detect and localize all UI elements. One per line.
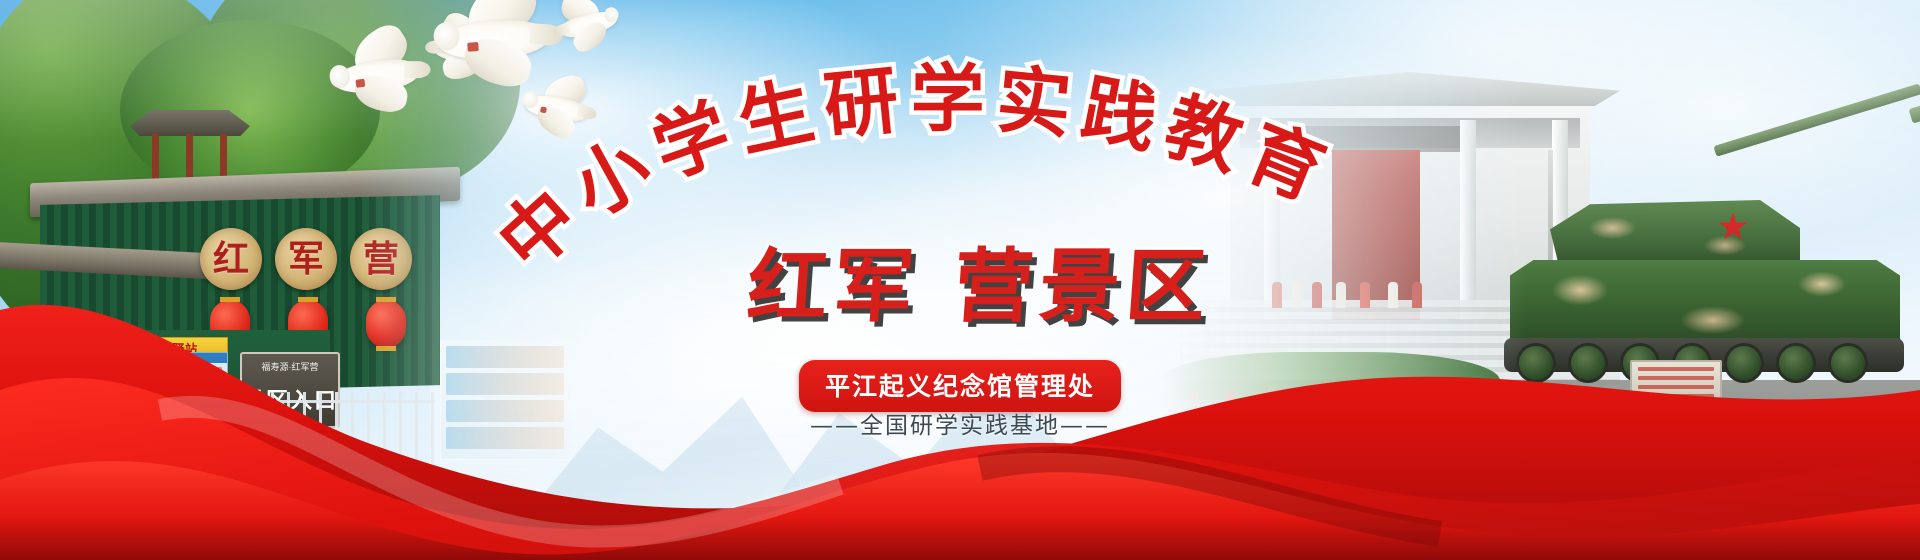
tank-muzzle — [1909, 99, 1920, 123]
dove-icon — [329, 37, 423, 114]
banner-root: 红 军 营 ★ 党员服务驿站 福寿源·红军营 景区入口 — [0, 0, 1920, 560]
memorial-hall-roof — [1200, 72, 1620, 106]
tank-gun-barrel — [1713, 83, 1920, 156]
red-star-icon — [1718, 212, 1748, 242]
pagoda-column — [186, 134, 193, 180]
pagoda-column — [152, 134, 159, 180]
pagoda-top — [130, 110, 250, 136]
pagoda-roof — [130, 110, 250, 180]
gate-roof — [30, 167, 460, 218]
memorial-hall-sign — [1280, 126, 1470, 152]
tank-turret — [1550, 200, 1800, 270]
dove-icon — [435, 0, 550, 84]
red-silk-ribbon — [0, 270, 1920, 560]
pagoda-column — [220, 134, 227, 180]
memorial-hall-windows — [1240, 118, 1580, 148]
